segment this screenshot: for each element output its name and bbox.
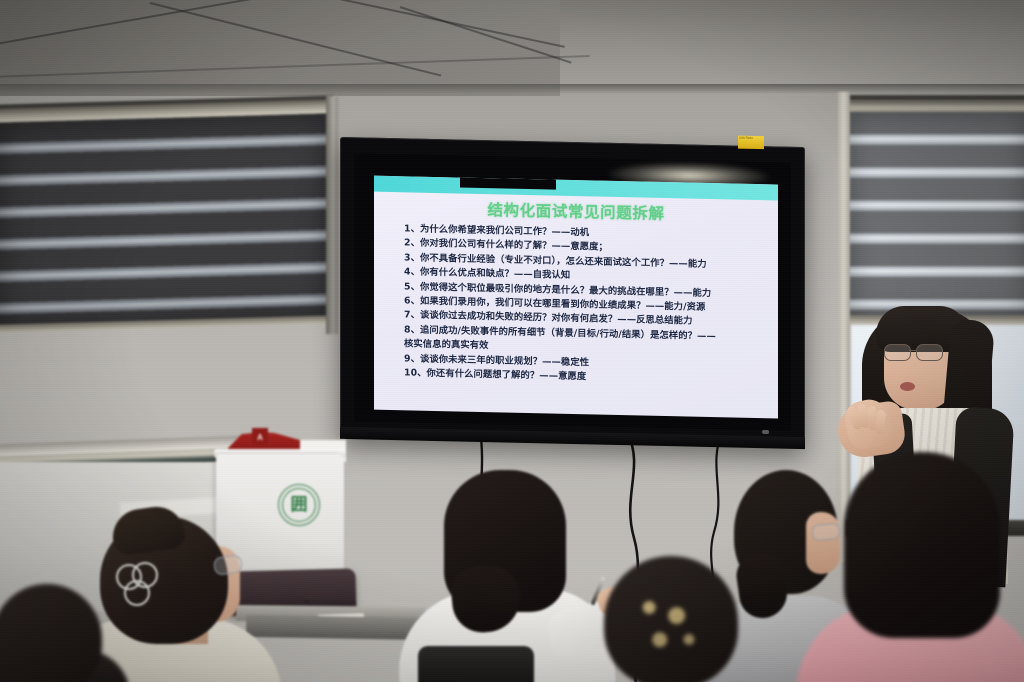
tv-screen[interactable]: 结构化面试常见问题拆解 1、为什么你希望来我们公司工作？——动机2、你对我们公司… [354, 153, 791, 431]
window-frame-left-side [326, 96, 338, 334]
slide-title: 结构化面试常见问题拆解 [374, 196, 778, 227]
ceiling-grid-line [0, 55, 590, 78]
eyeglass-lens-left [884, 344, 911, 361]
eyeglass-lens-right [916, 344, 943, 361]
slide-banner-notch [460, 178, 556, 190]
slide-body: 1、为什么你希望来我们公司工作？——动机2、你对我们公司有什么样的了解？——意愿… [404, 222, 766, 388]
presentation-slide: 结构化面试常见问题拆解 1、为什么你希望来我们公司工作？——动机2、你对我们公司… [374, 176, 778, 419]
attendee-grey-face [806, 512, 840, 574]
red-tag-text: A [252, 428, 268, 448]
finger [875, 410, 886, 435]
seal-glyph: 囲 [291, 497, 308, 514]
window-frame-column [838, 92, 850, 562]
flower-hair-clip-icon [116, 562, 162, 608]
tv-warning-sticker: CAUTION [738, 136, 764, 150]
attendee-pink-head [844, 452, 1000, 638]
zebra-roller-blind-right[interactable] [848, 112, 1024, 317]
red-tag-label: A [252, 428, 268, 448]
tv-power-led [762, 430, 769, 434]
eyeglasses-icon [884, 344, 952, 359]
eyeglass-bridge [909, 350, 916, 351]
presenter-fingers [850, 404, 886, 444]
ceiling-grid-line [400, 6, 572, 64]
ceiling-grid-line [330, 0, 565, 48]
zebra-roller-blind-left[interactable] [0, 113, 332, 327]
wall-mounted-flat-screen-tv[interactable]: CAUTION 结构化面试常见问题拆解 1、为什么你希望来我们公司工作？——动机… [340, 137, 805, 447]
ceiling-grid-line [0, 0, 315, 46]
chair-back [418, 646, 534, 682]
classroom-photo-scene: CAUTION 结构化面试常见问题拆解 1、为什么你希望来我们公司工作？——动机… [0, 0, 1024, 682]
presenter-mouth [900, 382, 915, 391]
institutional-seal-icon: 囲 [278, 484, 320, 526]
suspended-ceiling [0, 0, 560, 96]
ceiling-wall-junction [0, 84, 1024, 94]
clip-petal [124, 580, 150, 606]
